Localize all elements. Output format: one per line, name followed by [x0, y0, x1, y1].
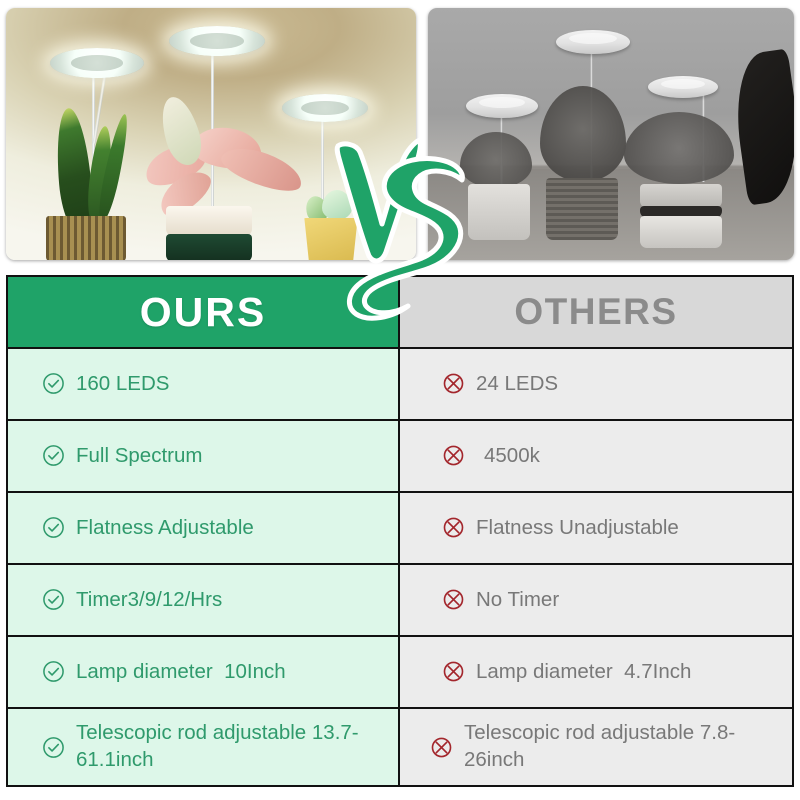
check-circle-icon [42, 588, 65, 611]
row-cell-others: Flatness Unadjustable [400, 493, 792, 563]
ours-title: OURS [140, 289, 266, 336]
patterned-pot-base [640, 216, 722, 248]
cross-circle-icon [442, 444, 465, 467]
ring-lamp-rod-2 [211, 46, 214, 206]
row-cell-ours: Timer3/9/12/Hrs [8, 565, 400, 635]
check-circle-icon [42, 444, 65, 467]
others-product-photo [428, 8, 794, 260]
rope-pot [546, 178, 618, 240]
disc-light-icon-3 [648, 76, 718, 98]
table-row: Flatness Adjustable Flatness Unadjustabl… [8, 493, 792, 565]
ring-light-icon-1 [50, 48, 144, 78]
row-cell-ours: 160 LEDS [8, 349, 400, 419]
cross-circle-icon [430, 736, 453, 759]
comparison-infographic: OURS OTHERS 160 LEDS [0, 0, 800, 800]
row-cell-others: Lamp diameter 4.7Inch [400, 637, 792, 707]
row-cell-others: 24 LEDS [400, 349, 792, 419]
white-pot-top [166, 206, 252, 236]
row-cell-others: 4500k [400, 421, 792, 491]
row-cell-ours: Telescopic rod adjustable 13.7-61.1inch [8, 709, 400, 785]
feature-text: Lamp diameter 10Inch [76, 659, 286, 685]
gold-ribbed-pot [46, 216, 126, 260]
succulent-leaf-2 [322, 190, 352, 220]
table-row: Telescopic rod adjustable 13.7-61.1inch … [8, 709, 792, 785]
cross-circle-icon [442, 588, 465, 611]
row-cell-others: No Timer [400, 565, 792, 635]
feature-text: No Timer [476, 587, 559, 613]
check-circle-icon [42, 372, 65, 395]
feature-text: 4500k [484, 443, 540, 469]
header-cell-others: OTHERS [400, 277, 792, 347]
table-row: 160 LEDS 24 LEDS [8, 349, 792, 421]
row-cell-others: Telescopic rod adjustable 7.8-26inch [400, 709, 792, 785]
table-header-row: OURS OTHERS [8, 277, 792, 349]
others-title: OTHERS [514, 291, 677, 333]
row-cell-ours: Flatness Adjustable [8, 493, 400, 563]
check-circle-icon [42, 516, 65, 539]
table-row: Timer3/9/12/Hrs No Timer [8, 565, 792, 637]
check-circle-icon [42, 736, 65, 759]
green-pot-base [166, 234, 252, 260]
comparison-table: OURS OTHERS 160 LEDS [6, 275, 794, 787]
cross-circle-icon [442, 660, 465, 683]
disc-light-icon-1 [466, 94, 538, 118]
feature-text: Lamp diameter 4.7Inch [476, 659, 691, 685]
table-row: Full Spectrum 4500k [8, 421, 792, 493]
feature-text: Timer3/9/12/Hrs [76, 587, 222, 613]
ring-light-icon-3 [282, 94, 368, 122]
feature-text-line1: Telescopic rod adjustable [464, 721, 694, 744]
photo-strip [0, 0, 800, 266]
feature-text: Flatness Adjustable [76, 515, 254, 541]
row-cell-ours: Full Spectrum [8, 421, 400, 491]
zigzag-pot [468, 184, 530, 240]
feature-text: Flatness Unadjustable [476, 515, 679, 541]
ring-light-icon-2 [169, 26, 265, 56]
table-row: Lamp diameter 10Inch Lamp diameter 4.7In… [8, 637, 792, 709]
feature-text: 24 LEDS [476, 371, 558, 397]
feature-text: Full Spectrum [76, 443, 202, 469]
cross-circle-icon [442, 372, 465, 395]
feature-text: 160 LEDS [76, 371, 169, 397]
check-circle-icon [42, 660, 65, 683]
feature-text-line1: Telescopic rod adjustable [76, 721, 306, 744]
header-cell-ours: OURS [8, 277, 400, 347]
ours-product-photo [6, 8, 416, 260]
row-cell-ours: Lamp diameter 10Inch [8, 637, 400, 707]
cross-circle-icon [442, 516, 465, 539]
yellow-pot [302, 218, 360, 260]
disc-light-icon-2 [556, 30, 630, 54]
patterned-pot-top [640, 184, 722, 208]
